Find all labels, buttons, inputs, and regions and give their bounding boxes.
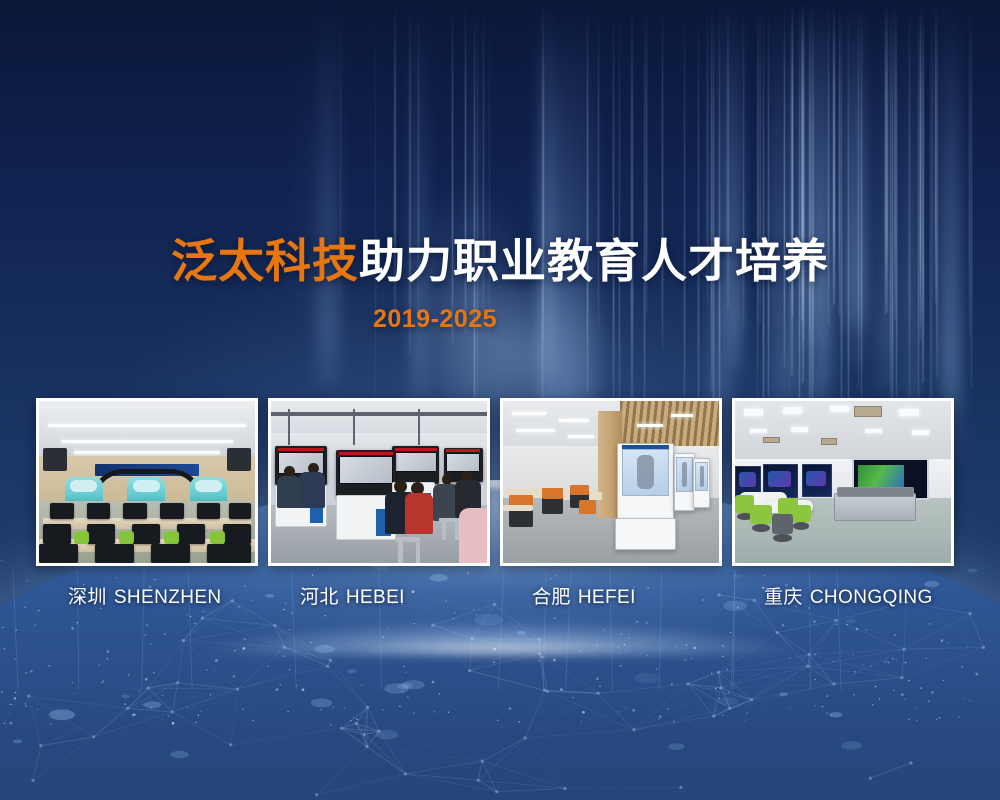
shenzhen-lab-photo [39,401,255,563]
caption-hefei-en: HEFEI [578,587,636,608]
caption-hebei: 河北HEBEI [268,584,490,612]
caption-hefei: 合肥HEFEI [500,584,722,612]
caption-hebei-en: HEBEI [346,587,405,608]
caption-shenzhen-cn: 深圳 [68,587,107,608]
caption-shenzhen-en: SHENZHEN [114,587,222,608]
hebei-lab-photo [271,401,487,563]
gallery-card-shenzhen[interactable] [36,398,258,566]
caption-hefei-cn: 合肥 [532,587,571,608]
gallery-card-chongqing[interactable] [732,398,954,566]
gallery-card-hebei[interactable] [268,398,490,566]
year-range: 2019-2025 [0,305,1000,334]
page-title: 泛太科技助力职业教育人才培养 [0,232,1000,290]
caption-shenzhen: 深圳SHENZHEN [36,584,258,612]
chongqing-lab-photo [735,401,951,563]
brand-name: 泛太科技 [171,234,359,288]
title-block: 泛太科技助力职业教育人才培养 [0,232,1000,290]
poster-canvas: 泛太科技助力职业教育人才培养 2019-2025 [0,0,1000,800]
hefei-lab-photo [503,401,719,563]
title-tagline: 助力职业教育人才培养 [359,234,829,288]
photo-strip [36,398,964,566]
caption-hebei-cn: 河北 [300,587,339,608]
caption-chongqing-cn: 重庆 [764,587,803,608]
caption-chongqing-en: CHONGQING [810,587,933,608]
gallery-card-hefei[interactable] [500,398,722,566]
caption-chongqing: 重庆CHONGQING [732,584,954,612]
caption-row: 深圳SHENZHEN 河北HEBEI 合肥HEFEI 重庆CHONGQING [36,584,964,612]
